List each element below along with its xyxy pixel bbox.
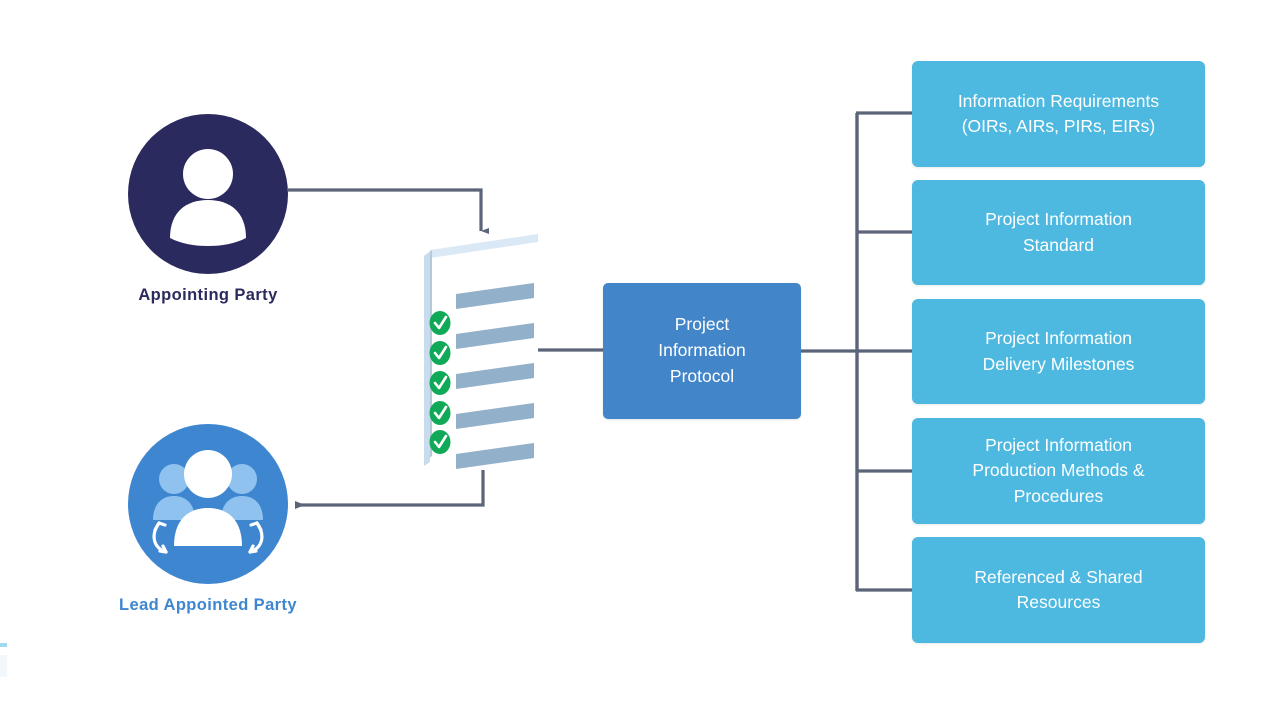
project-information-protocol-label: Project Information Protocol [658, 312, 746, 390]
component-label: Information Requirements (OIRs, AIRs, PI… [948, 89, 1169, 139]
project-information-protocol-box[interactable]: Project Information Protocol [603, 283, 801, 419]
connector-appointing-to-checklist [288, 190, 481, 231]
lead-appointed-party-avatar [128, 424, 288, 584]
checklist-document [418, 228, 546, 472]
component-box-referenced-shared-resources[interactable]: Referenced & Shared Resources [912, 537, 1205, 643]
edge-artifact [0, 643, 7, 647]
component-label: Project Information Standard [975, 207, 1142, 257]
lead-appointed-party-label: Lead Appointed Party [106, 595, 310, 617]
edge-artifact-secondary [0, 655, 7, 677]
component-label: Project Information Delivery Milestones [973, 326, 1145, 376]
component-label: Project Information Production Methods &… [962, 433, 1154, 509]
single-person-icon [128, 114, 288, 274]
component-label: Referenced & Shared Resources [964, 565, 1152, 615]
appointing-party-avatar [128, 114, 288, 274]
diagram-canvas: Appointing Party [0, 0, 1280, 720]
component-box-production-methods-procedures[interactable]: Project Information Production Methods &… [912, 418, 1205, 524]
component-box-information-requirements[interactable]: Information Requirements (OIRs, AIRs, PI… [912, 61, 1205, 167]
component-box-delivery-milestones[interactable]: Project Information Delivery Milestones [912, 299, 1205, 404]
actor-lead-appointed-party: Lead Appointed Party [106, 424, 310, 617]
actor-appointing-party: Appointing Party [108, 114, 308, 307]
bracket-connector [856, 113, 913, 591]
group-people-icon [128, 424, 288, 584]
appointing-party-label: Appointing Party [108, 285, 308, 307]
component-box-project-information-standard[interactable]: Project Information Standard [912, 180, 1205, 285]
checklist-document-icon [418, 228, 546, 472]
connector-checklist-to-lead [295, 470, 483, 505]
